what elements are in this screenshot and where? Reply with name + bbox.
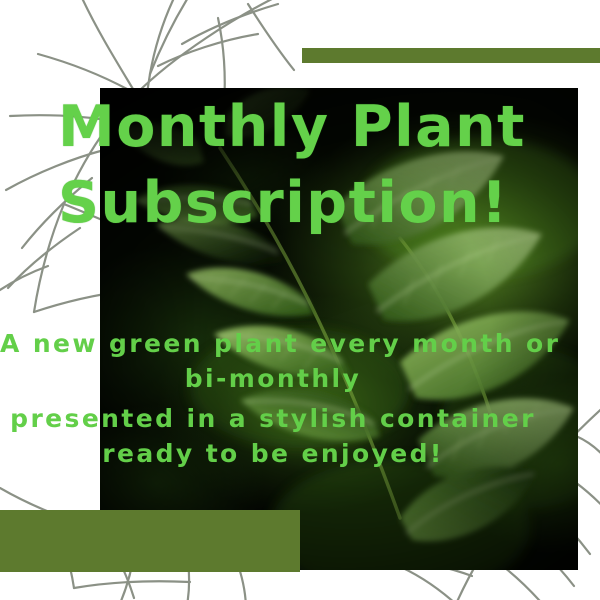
headline-line-2: Subscription!	[58, 172, 578, 234]
body-line-3: presented in a stylish container	[0, 401, 546, 436]
olive-accent-bar-top	[302, 48, 600, 63]
headline-line-1: Monthly Plant	[58, 96, 578, 158]
poster-canvas: Monthly Plant Subscription! A new green …	[0, 0, 600, 600]
body-line-1: A new green plant every month or	[0, 326, 546, 361]
olive-accent-block-bottom	[0, 510, 300, 572]
body-line-4: ready to be enjoyed!	[0, 436, 546, 471]
body-line-2: bi-monthly	[0, 361, 546, 396]
body-copy: A new green plant every month or bi-mont…	[0, 326, 546, 471]
page-title: Monthly Plant Subscription!	[58, 96, 578, 234]
